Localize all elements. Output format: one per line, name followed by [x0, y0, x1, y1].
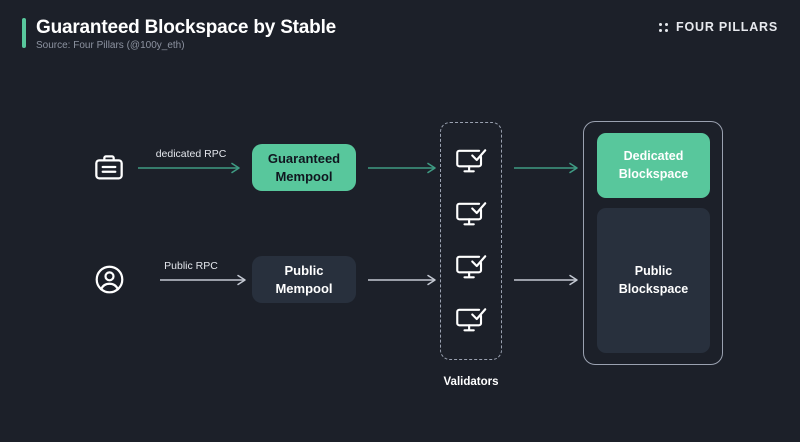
four-dots-icon [659, 23, 668, 32]
monitor-check-icon [454, 147, 488, 177]
arrow-user-to-public-mempool [160, 270, 252, 290]
arrow-guaranteed-mempool-to-validators [368, 158, 442, 178]
dedicated-blockspace-line2: Blockspace [619, 167, 688, 181]
public-mempool-box: Public Mempool [252, 256, 356, 303]
arrow-user-to-guaranteed-mempool [138, 158, 246, 178]
guaranteed-mempool-line1: Guaranteed [268, 151, 340, 166]
blockspace-container: Dedicated Blockspace Public Blockspace [583, 121, 723, 365]
dedicated-blockspace-box: Dedicated Blockspace [597, 133, 710, 198]
page-subtitle: Source: Four Pillars (@100y_eth) [36, 40, 185, 51]
public-mempool-line2: Mempool [275, 281, 332, 296]
public-mempool-line1: Public [284, 263, 323, 278]
validators-label: Validators [420, 376, 522, 388]
arrow-validators-to-public-blockspace [514, 270, 584, 290]
dedicated-blockspace-line1: Dedicated [624, 149, 684, 163]
briefcase-icon [88, 146, 130, 188]
guaranteed-mempool-box: Guaranteed Mempool [252, 144, 356, 191]
monitor-check-icon [454, 200, 488, 230]
validators-group [440, 122, 502, 360]
diagram-canvas: Guaranteed Blockspace by Stable Source: … [0, 0, 800, 442]
user-circle-icon [88, 258, 130, 300]
arrow-validators-to-dedicated-blockspace [514, 158, 584, 178]
monitor-check-icon [454, 253, 488, 283]
arrow-public-mempool-to-validators [368, 270, 442, 290]
title-accent-bar [22, 18, 26, 48]
public-blockspace-box: Public Blockspace [597, 208, 710, 353]
monitor-check-icon [454, 306, 488, 336]
guaranteed-mempool-line2: Mempool [275, 169, 332, 184]
brand-name: FOUR PILLARS [676, 20, 778, 34]
public-blockspace-line1: Public [635, 264, 673, 278]
page-title: Guaranteed Blockspace by Stable [36, 17, 336, 39]
public-blockspace-line2: Blockspace [619, 282, 688, 296]
header: Guaranteed Blockspace by Stable Source: … [0, 0, 800, 68]
brand-logo: FOUR PILLARS [659, 20, 778, 34]
